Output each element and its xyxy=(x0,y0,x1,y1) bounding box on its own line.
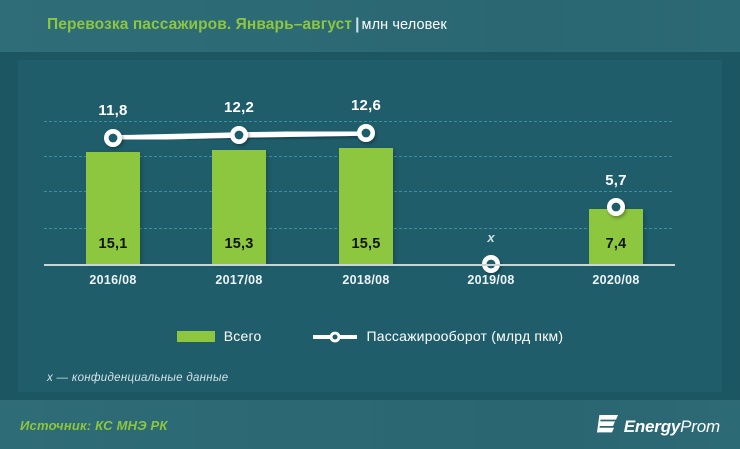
line-value-2017: 12,2 xyxy=(209,99,269,116)
page-title: Перевозка пассажиров. Январь–август|млн … xyxy=(47,16,447,34)
energyprom-wordmark: EnergyProm xyxy=(624,417,720,437)
line-value-2020: 5,7 xyxy=(586,172,646,189)
title-main: Перевозка пассажиров. Январь–август xyxy=(47,16,352,33)
footnote-confidential: x — конфиденциальные данные xyxy=(47,372,228,384)
bar-value-2016: 15,1 xyxy=(86,236,140,252)
confidential-x-2019: x xyxy=(461,230,521,245)
legend-line-swatch-icon xyxy=(313,330,357,342)
legend-bar-swatch-icon xyxy=(177,331,215,342)
line-marker-2016[interactable] xyxy=(104,129,122,147)
chart-body-panel: 15,1 15,3 15,5 7,4 xyxy=(0,52,740,400)
energyprom-e-icon xyxy=(597,413,618,440)
header-band: Перевозка пассажиров. Январь–август|млн … xyxy=(0,0,740,52)
title-separator: | xyxy=(355,16,359,33)
x-tick-2020: 2020/08 xyxy=(586,273,646,287)
x-tick-2017: 2017/08 xyxy=(209,273,269,287)
bar-value-2020: 7,4 xyxy=(589,236,643,252)
plot-area: 15,1 15,3 15,5 7,4 xyxy=(0,52,740,400)
line-marker-2016-hole xyxy=(109,134,118,143)
x-tick-2016: 2016/08 xyxy=(83,273,143,287)
chart-legend: Всего Пассажирооборот (млрд пкм) xyxy=(0,328,740,344)
footer-band: Источник: КС МНЭ РК EnergyProm xyxy=(0,400,740,449)
x-tick-2019: 2019/08 xyxy=(461,273,521,287)
line-value-2016: 11,8 xyxy=(83,102,143,119)
line-value-2018: 12,6 xyxy=(336,97,396,114)
gridline-1 xyxy=(44,121,672,122)
energyprom-logo[interactable]: EnergyProm xyxy=(597,413,720,440)
line-marker-2018-hole xyxy=(362,129,371,138)
legend-item-passenger-turnover[interactable]: Пассажирооборот (млрд пкм) xyxy=(313,328,563,344)
line-path xyxy=(113,133,366,138)
logo-text-light: Prom xyxy=(680,417,720,436)
line-marker-2018[interactable] xyxy=(357,124,375,142)
x-axis-line xyxy=(44,264,675,266)
source-label: Источник: КС МНЭ РК xyxy=(20,418,168,433)
line-marker-2017[interactable] xyxy=(230,126,248,144)
x-tick-2018: 2018/08 xyxy=(336,273,396,287)
line-marker-2017-hole xyxy=(235,131,244,140)
legend-item-total[interactable]: Всего xyxy=(177,328,262,344)
title-subtitle: млн человек xyxy=(362,17,447,33)
legend-label-passenger-turnover: Пассажирооборот (млрд пкм) xyxy=(366,328,563,344)
infographic-root: Перевозка пассажиров. Январь–август|млн … xyxy=(0,0,740,449)
bar-value-2018: 15,5 xyxy=(339,236,393,252)
logo-text-bold: Energy xyxy=(624,417,680,436)
legend-label-total: Всего xyxy=(224,328,262,344)
bar-value-2017: 15,3 xyxy=(212,236,266,252)
